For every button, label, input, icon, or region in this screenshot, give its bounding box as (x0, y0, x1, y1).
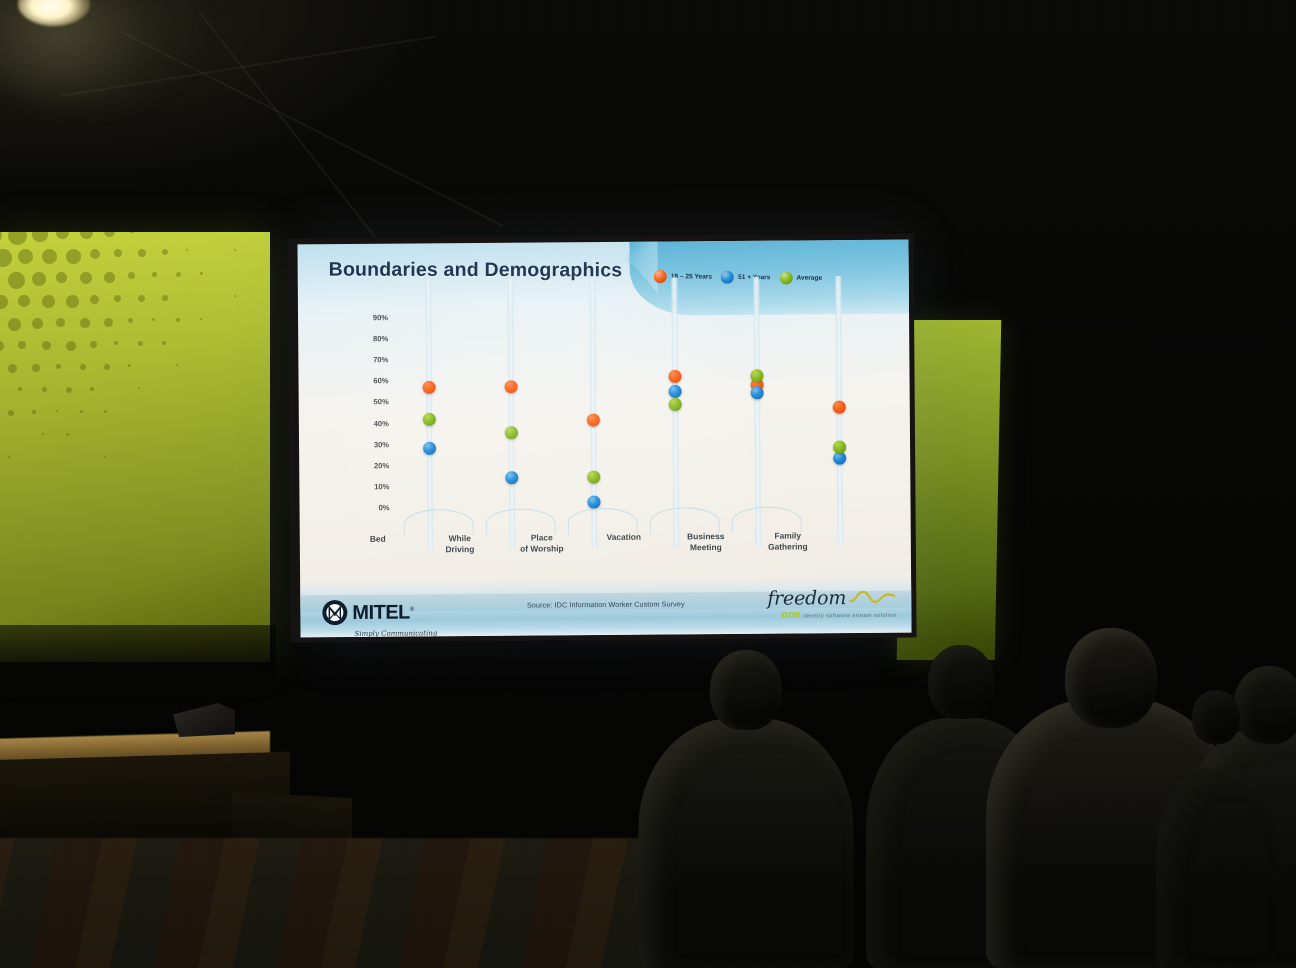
halftone-dot (0, 249, 12, 267)
category-label-line: Place (505, 532, 579, 544)
freedom-wave-icon (849, 589, 895, 607)
halftone-dot (0, 341, 4, 351)
slide-title: Boundaries and Demographics (329, 259, 623, 283)
halftone-dot (234, 433, 235, 434)
halftone-dot (138, 295, 145, 302)
halftone-dot (114, 387, 115, 388)
halftone-dot (234, 249, 236, 251)
category-label-line: Vacation (587, 532, 661, 544)
category-arch (732, 506, 802, 533)
halftone-dot (234, 387, 235, 388)
category-label: FamilyGathering (751, 530, 825, 553)
projection-screen-frame: Boundaries and Demographics 18 – 25 Year… (287, 234, 916, 643)
halftone-dot (90, 387, 94, 391)
halftone-dot (32, 318, 43, 329)
halftone-dot (104, 364, 110, 370)
halftone-dot (56, 272, 67, 283)
halftone-dot (8, 456, 10, 458)
halftone-dot (42, 341, 51, 350)
data-point-dot (750, 370, 763, 383)
halftone-dot (138, 387, 140, 389)
category-label: WhileDriving (423, 533, 497, 556)
halftone-dot (0, 295, 8, 309)
green-halftone-wall (0, 232, 270, 662)
category-arch (650, 507, 720, 534)
chart-columns (396, 314, 897, 508)
legend-item: 51 + Years (721, 271, 770, 285)
halftone-dot (114, 295, 121, 302)
freedom-one-text: one (781, 609, 800, 620)
halftone-dot (152, 318, 155, 321)
slide-footer: MITEL® Simply Communicating Source: IDC … (300, 577, 911, 638)
halftone-dot (138, 341, 143, 346)
halftone-dot (128, 364, 131, 367)
data-point-dot (422, 412, 435, 425)
halftone-dot (0, 232, 2, 244)
category-label-line: Meeting (669, 542, 743, 554)
halftone-dot (32, 272, 46, 286)
data-point-dot (587, 495, 600, 508)
data-point-dot (832, 401, 845, 414)
category-label-line: Driving (423, 544, 497, 556)
halftone-dot (56, 364, 61, 369)
halftone-dot (32, 364, 40, 372)
halftone-dot (104, 272, 115, 283)
wall-left-shadow (0, 625, 276, 695)
y-axis-tick-label: 50% (373, 398, 388, 407)
category-label-line: Family (751, 530, 825, 542)
legend-item: 18 – 25 Years (654, 270, 712, 284)
halftone-dot (80, 272, 92, 284)
halftone-dot (186, 249, 188, 251)
halftone-dot (66, 387, 72, 393)
halftone-dot (66, 341, 76, 351)
category-label: Vacation (587, 532, 661, 544)
data-point-dot (504, 380, 517, 393)
category-label-line: of Worship (505, 544, 579, 556)
data-point-dot (504, 426, 517, 439)
halftone-dot (66, 295, 79, 308)
halftone-dot (8, 272, 25, 289)
y-axis-tick-label: 90% (373, 313, 388, 322)
halftone-dot (104, 232, 115, 237)
halftone-dot (66, 433, 69, 436)
y-axis-tick-label: 80% (373, 334, 388, 343)
halftone-dot (176, 272, 181, 277)
category-arch (404, 509, 474, 536)
category-arch (486, 508, 556, 535)
halftone-dot (128, 272, 135, 279)
halftone-dot (152, 272, 157, 277)
mitel-tagline: Simply Communicating (354, 629, 437, 637)
freedom-sub-lockup: one identity software stream solution (781, 609, 896, 620)
category-label: Bed (341, 533, 415, 545)
halftone-dot (18, 387, 22, 391)
y-axis-tick-label: 60% (373, 377, 388, 386)
halftone-dot (176, 364, 178, 366)
halftone-dot (114, 249, 122, 257)
data-point-dot (833, 441, 846, 454)
patterned-carpet (0, 838, 680, 968)
data-point-dot (422, 381, 435, 394)
halftone-dot (90, 249, 100, 259)
halftone-dot (56, 318, 65, 327)
freedom-logo: freedom one identity software stream sol… (767, 587, 895, 624)
freedom-wordmark: freedom (767, 587, 846, 610)
legend-item: Average (779, 271, 822, 284)
halftone-dot (186, 295, 187, 296)
halftone-dot (42, 433, 44, 435)
halftone-dot (162, 433, 163, 434)
category-label-line: Bed (341, 533, 415, 545)
halftone-dot (138, 249, 146, 257)
y-axis-tick-label: 30% (374, 440, 389, 449)
y-axis-tick-label: 70% (373, 355, 388, 364)
legend-label: Average (796, 275, 822, 282)
halftone-dot (176, 318, 180, 322)
halftone-dot (104, 318, 113, 327)
data-point-dot (587, 470, 600, 483)
category-label-line: While (423, 533, 497, 545)
halftone-dot (234, 295, 236, 297)
halftone-dot (8, 232, 27, 245)
data-point-dot (423, 442, 436, 455)
halftone-dot (18, 295, 30, 307)
data-point-dot (668, 370, 681, 383)
halftone-dot (18, 249, 33, 264)
chart-column (724, 315, 789, 505)
chart-column (806, 314, 871, 504)
data-point-dot (750, 386, 763, 399)
orange-circle-icon (654, 270, 667, 283)
halftone-dot (162, 387, 163, 388)
halftone-dot (80, 318, 90, 328)
halftone-dot (32, 410, 36, 414)
halftone-dot (56, 410, 58, 412)
chart-column (478, 316, 543, 506)
y-axis-tick-label: 0% (379, 503, 390, 512)
y-axis-tick-label: 10% (374, 482, 389, 491)
halftone-dot (66, 249, 81, 264)
halftone-dot (56, 232, 69, 239)
blue-circle-icon (721, 271, 734, 284)
category-arch (568, 508, 638, 535)
category-label-line: Gathering (751, 542, 825, 554)
halftone-dot (162, 249, 168, 255)
halftone-dot (234, 341, 235, 342)
halftone-dot (18, 341, 26, 349)
halftone-dot (8, 318, 21, 331)
halftone-dot (80, 364, 86, 370)
halftone-dot (162, 295, 168, 301)
conference-hall-photo: Boundaries and Demographics 18 – 25 Year… (0, 0, 1296, 968)
y-axis-tick-label: 20% (374, 461, 389, 470)
halftone-dot (200, 318, 202, 320)
halftone-dot (90, 341, 97, 348)
halftone-dot (32, 232, 48, 242)
halftone-dot (42, 387, 47, 392)
chart-legend: 18 – 25 Years51 + YearsAverage (654, 270, 823, 285)
halftone-dot (104, 410, 107, 413)
halftone-dot (128, 232, 135, 233)
freedom-tagline: identity software stream solution (803, 613, 897, 620)
category-label: BusinessMeeting (669, 531, 743, 554)
halftone-dot (80, 232, 93, 239)
y-axis-tick-label: 40% (374, 419, 389, 428)
halftone-dot (8, 410, 14, 416)
halftone-dot (104, 456, 106, 458)
chart-plot-area: 90%80%70%60%50%40%30%20%10%0% (350, 314, 897, 508)
halftone-dot (90, 295, 99, 304)
halftone-dot (42, 295, 55, 308)
halftone-dot (8, 364, 17, 373)
halftone-dot (162, 341, 166, 345)
category-label-line: Business (669, 531, 743, 543)
category-labels: BedWhileDrivingPlaceof WorshipVacationBu… (346, 530, 906, 574)
chart-column (642, 315, 707, 505)
presentation-slide: Boundaries and Demographics 18 – 25 Year… (297, 240, 911, 638)
green-circle-icon (779, 271, 792, 284)
halftone-dot (128, 318, 133, 323)
data-point-dot (505, 471, 518, 484)
data-point-dot (586, 413, 599, 426)
y-axis: 90%80%70%60%50%40%30%20%10%0% (350, 318, 389, 508)
halftone-dot (80, 410, 83, 413)
data-point-dot (668, 385, 681, 398)
data-point-dot (668, 398, 681, 411)
category-label: Placeof Worship (505, 532, 579, 555)
halftone-dot (200, 272, 203, 275)
chart-column (396, 317, 461, 507)
chart-column (560, 316, 625, 506)
halftone-dot (114, 341, 118, 345)
halftone-dot (42, 249, 57, 264)
